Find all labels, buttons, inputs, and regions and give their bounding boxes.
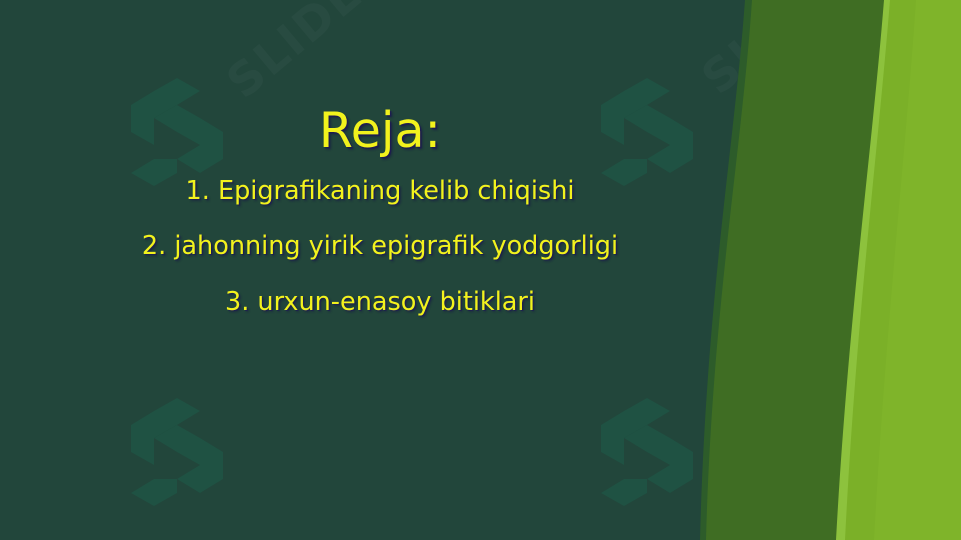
slide-title: Reja: [319,104,441,159]
bullet-item-2: 2. jahonning yirik epigrafik yodgorligi [142,232,618,262]
slide-text-content: Reja: 1. Epigrafikaning kelib chiqishi 2… [0,0,760,540]
bullet-item-3: 3. urxun-enasoy bitiklari [225,288,535,318]
bullet-item-1: 1. Epigrafikaning kelib chiqishi [186,177,575,207]
presentation-slide: SLIDE SLIDE SLIDE [0,0,961,540]
